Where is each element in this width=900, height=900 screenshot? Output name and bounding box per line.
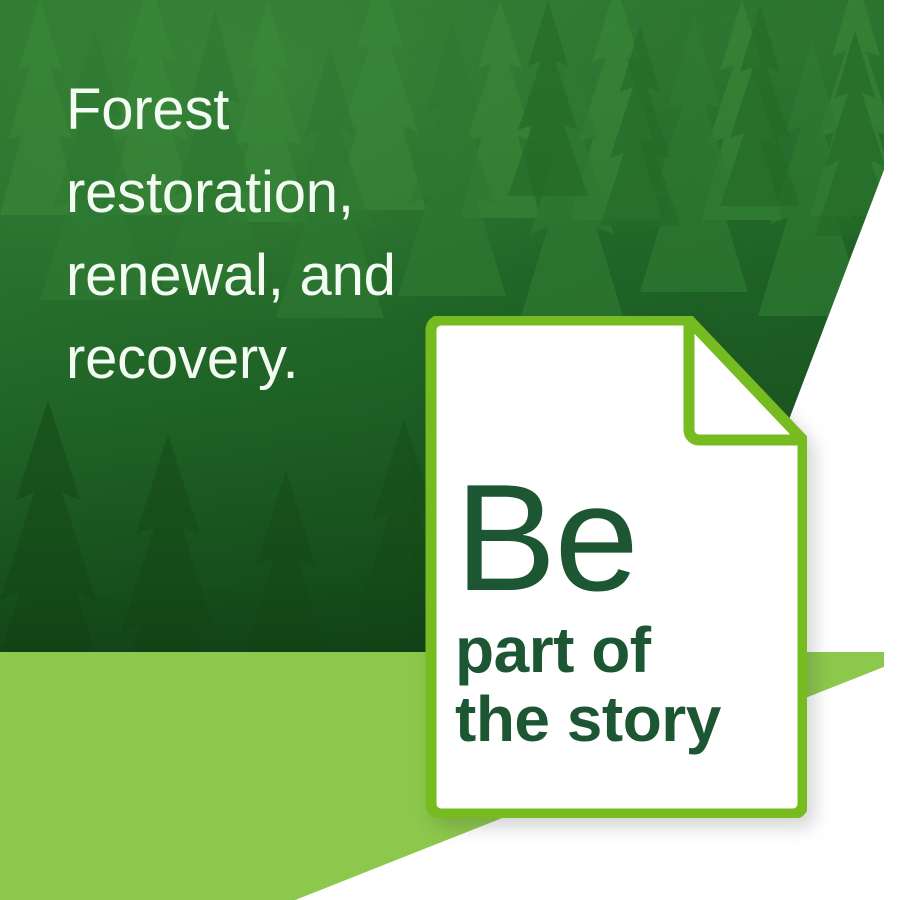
card-subline: part of the story (455, 616, 785, 754)
document-card-text: Be part of the story (455, 470, 785, 754)
poster-canvas: Forest restoration, renewal, and recover… (0, 0, 900, 900)
card-headline: Be (455, 470, 785, 606)
